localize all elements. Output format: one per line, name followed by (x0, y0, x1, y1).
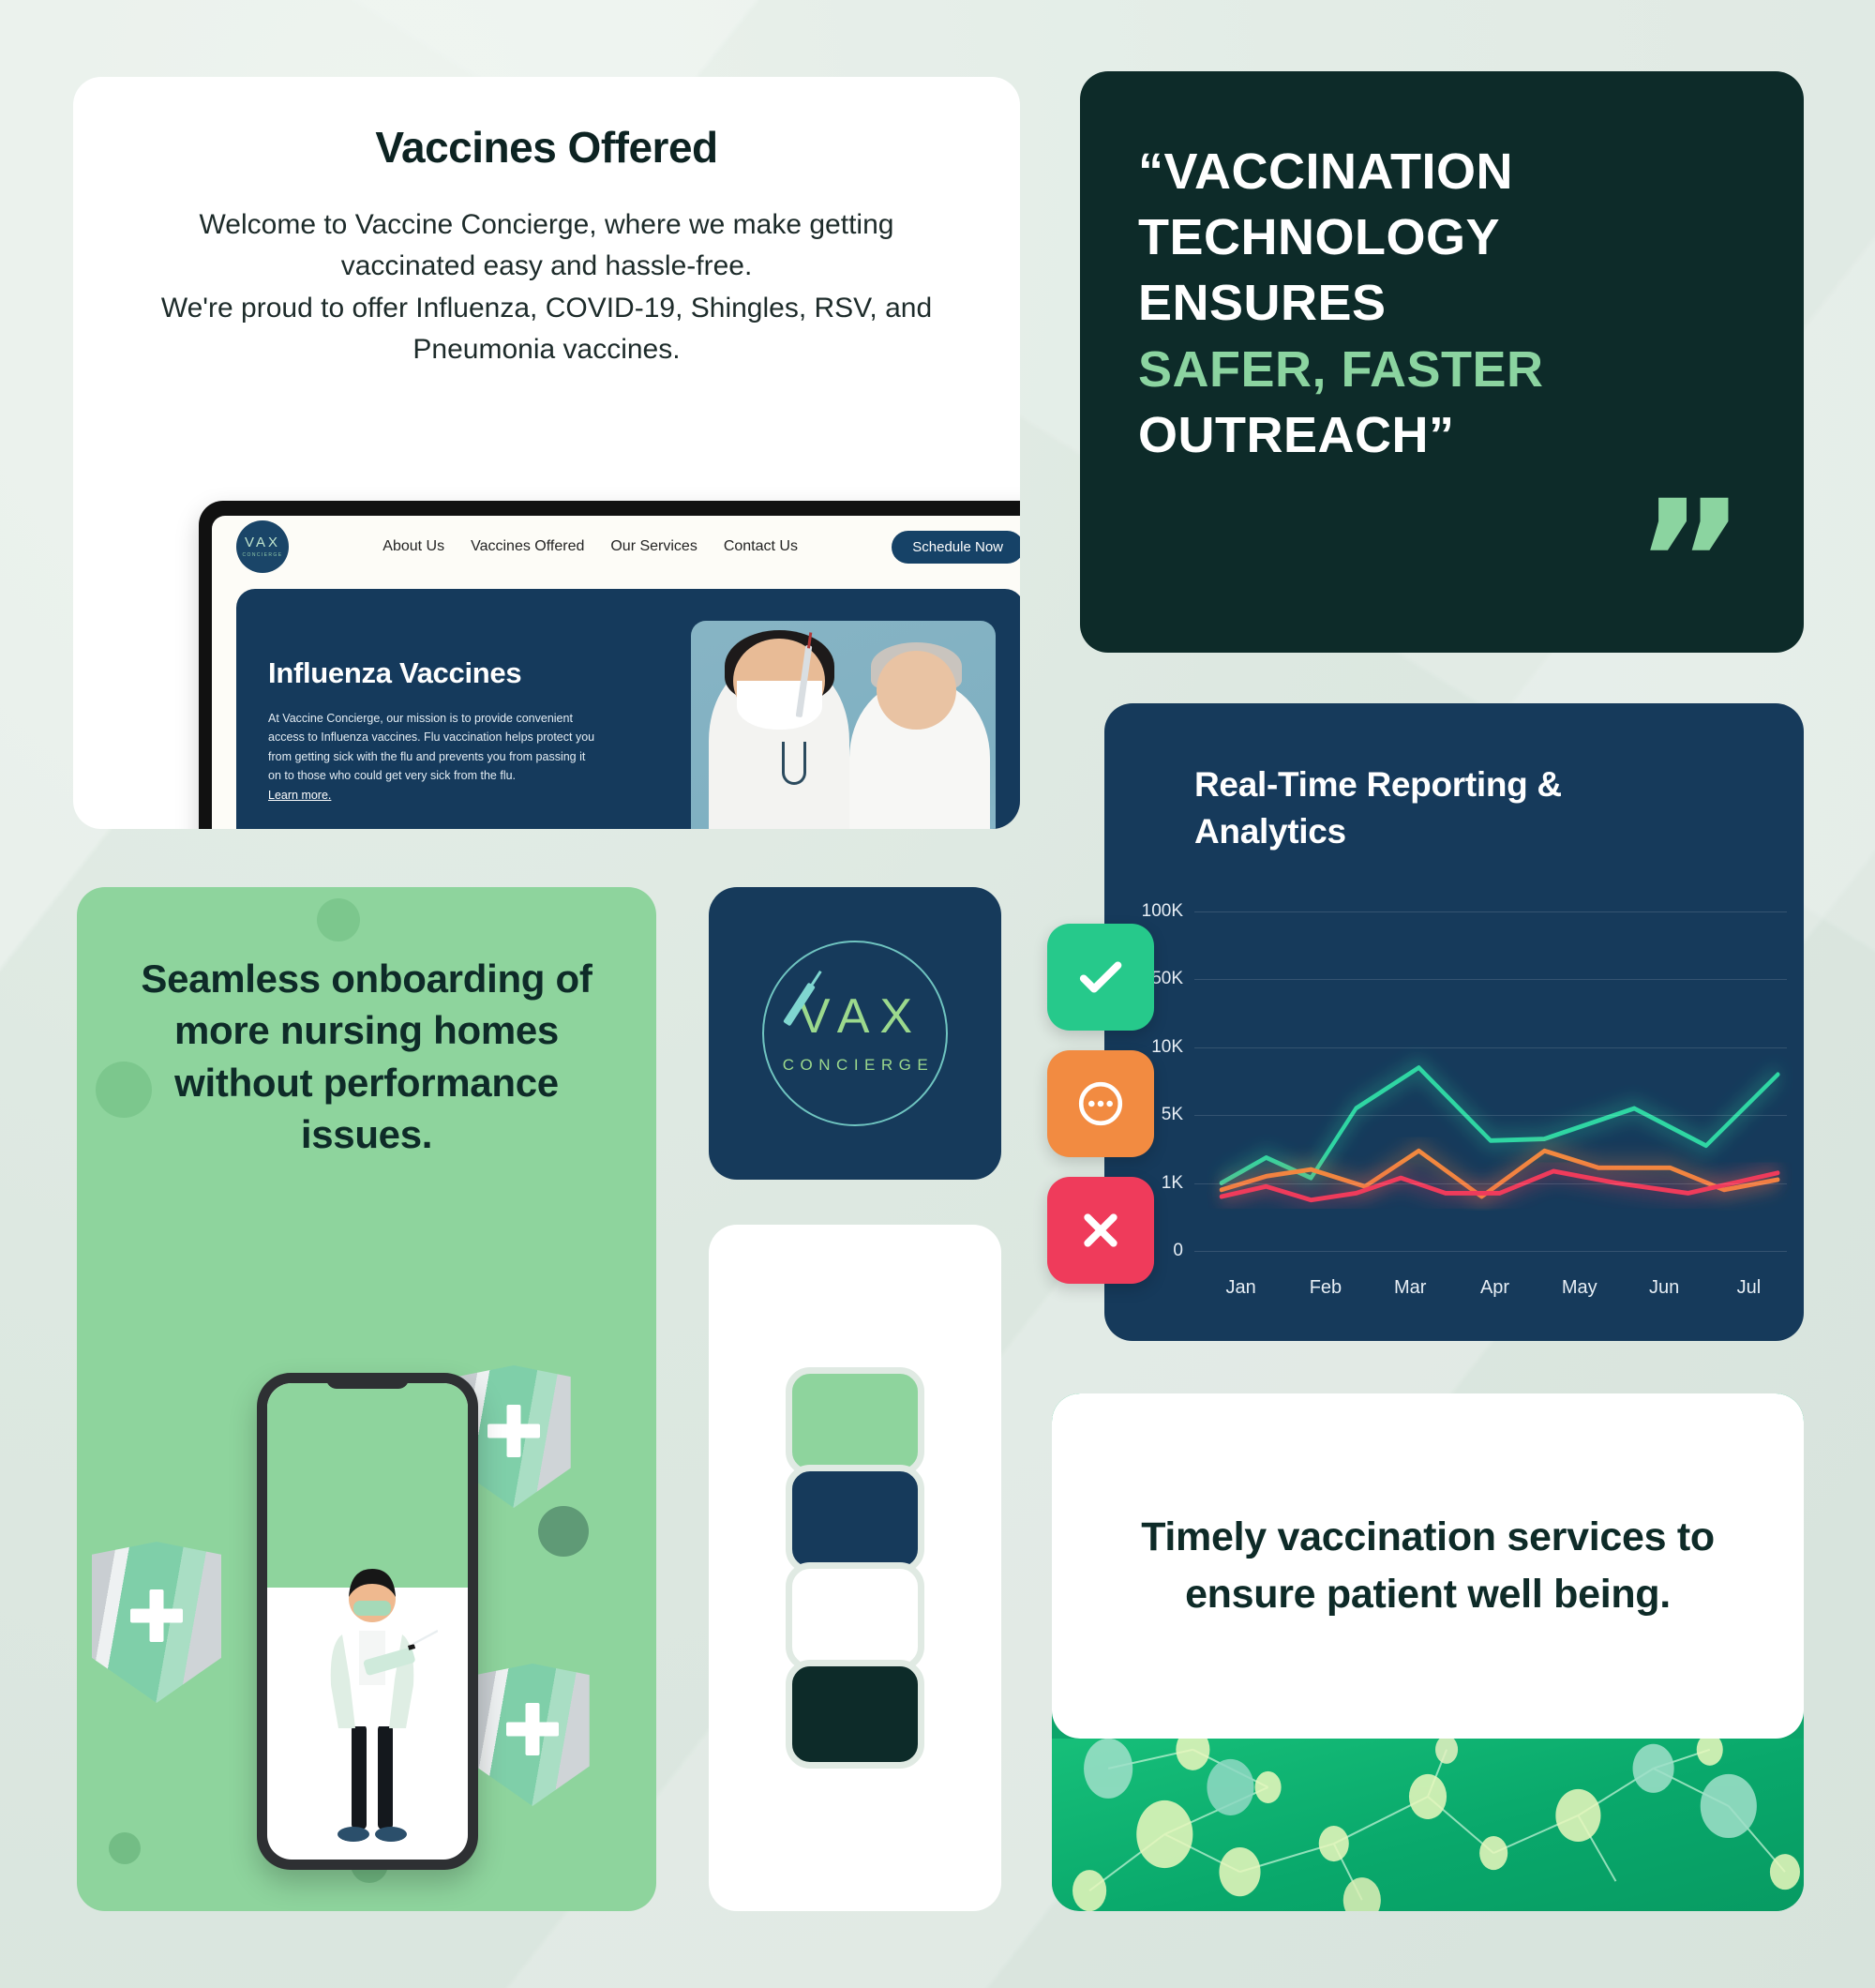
gridline (1194, 911, 1787, 912)
intro-line-1: Welcome to Vaccine Concierge, where we m… (157, 204, 936, 288)
tablet-screen: VAX CONCIERGE About Us Vaccines Offered … (212, 516, 1020, 829)
hero-photo (691, 621, 996, 829)
logo-subtitle: CONCIERGE (776, 1056, 934, 1075)
ellipsis-circle-icon (1073, 1077, 1128, 1131)
x-axis-label: May (1562, 1277, 1597, 1299)
gridline (1194, 1047, 1787, 1048)
virus-decor-1 (317, 898, 360, 941)
y-axis-label: 1K (1162, 1173, 1183, 1194)
stethoscope-icon (782, 742, 806, 785)
logo-wordmark: VAX (787, 992, 922, 1041)
quote-card: “VACCINATION TECHNOLOGY ENSURES SAFER, F… (1080, 71, 1804, 653)
nav-item-contact-us[interactable]: Contact Us (724, 538, 798, 555)
quote-line-4: SAFER, FASTER (1138, 337, 1746, 402)
y-axis-label: 0 (1173, 1241, 1183, 1261)
gridline (1194, 1251, 1787, 1252)
intro-line-2: We're proud to offer Influenza, COVID-19… (157, 288, 936, 371)
onboarding-heading: Seamless onboarding of more nursing home… (77, 887, 656, 1161)
nav-item-our-services[interactable]: Our Services (610, 538, 697, 555)
swatch-dark-teal[interactable] (786, 1660, 924, 1769)
logo-word-text: VAX (798, 989, 922, 1044)
quote-line-2: TECHNOLOGY (1138, 204, 1746, 270)
logo-ring: VAX CONCIERGE (762, 941, 948, 1126)
y-axis-label: 100K (1142, 901, 1183, 922)
close-icon (1073, 1203, 1128, 1258)
quotation-mark-icon: ” (1635, 520, 1746, 608)
status-badge-group (1047, 924, 1154, 1284)
nav-item-vaccines-offered[interactable]: Vaccines Offered (471, 538, 584, 555)
hero-title: Influenza Vaccines (268, 656, 685, 690)
molecule-graphic (1052, 1739, 1804, 1911)
virus-icon-dark (538, 1506, 589, 1557)
color-palette-card (709, 1225, 1001, 1911)
check-icon (1073, 950, 1128, 1004)
timely-heading: Timely vaccination services to ensure pa… (1128, 1509, 1728, 1623)
gridline (1194, 979, 1787, 980)
x-axis-label: Jan (1226, 1277, 1256, 1299)
doctor-illustration (297, 1541, 438, 1850)
quote-line-1: “VACCINATION (1138, 139, 1746, 204)
intro-paragraph: Welcome to Vaccine Concierge, where we m… (157, 204, 936, 371)
shield-icon-left (86, 1542, 227, 1703)
x-axis-label: Mar (1394, 1277, 1426, 1299)
timely-text-panel: Timely vaccination services to ensure pa… (1052, 1393, 1804, 1739)
face-mask-icon (737, 681, 822, 730)
smartphone-mockup (257, 1373, 478, 1870)
x-axis-label: Apr (1480, 1277, 1509, 1299)
quote-text: “VACCINATION TECHNOLOGY ENSURES SAFER, F… (1080, 71, 1804, 468)
swatch-light-green[interactable] (786, 1367, 924, 1476)
phone-notch (326, 1373, 409, 1389)
x-axis-label: Feb (1310, 1277, 1342, 1299)
swatch-navy[interactable] (786, 1465, 924, 1574)
shield-icon-bottom-right (471, 1664, 594, 1806)
website-navbar: VAX CONCIERGE About Us Vaccines Offered … (212, 516, 1020, 578)
timely-vaccination-card: Timely vaccination services to ensure pa… (1052, 1393, 1804, 1911)
swatch-white[interactable] (786, 1562, 924, 1671)
navbar-links: About Us Vaccines Offered Our Services C… (382, 538, 798, 555)
website-hero: Influenza Vaccines At Vaccine Concierge,… (236, 589, 1020, 829)
patient-head (877, 651, 956, 730)
y-axis-label: 5K (1162, 1105, 1183, 1125)
pending-badge[interactable] (1047, 1050, 1154, 1157)
y-axis-label: 10K (1151, 1037, 1183, 1058)
hero-body: At Vaccine Concierge, our mission is to … (268, 709, 596, 785)
y-axis-label: 50K (1151, 969, 1183, 989)
tablet-mockup: VAX CONCIERGE About Us Vaccines Offered … (199, 501, 1020, 829)
chart-title: Real-Time Reporting & Analytics (1104, 703, 1667, 855)
chart-plot-area: 01K5K10K50K100KJanFebMarAprMayJunJul (1194, 911, 1787, 1251)
navbar-logo-word: VAX (245, 535, 280, 550)
hero-text-block: Influenza Vaccines At Vaccine Concierge,… (236, 621, 685, 829)
nav-item-about-us[interactable]: About Us (382, 538, 444, 555)
vaccines-offered-card: Vaccines Offered Welcome to Vaccine Conc… (73, 77, 1020, 829)
navbar-logo-sub: CONCIERGE (243, 552, 283, 558)
check-badge[interactable] (1047, 924, 1154, 1031)
quote-line-5: OUTREACH” (1138, 402, 1746, 468)
navbar-logo[interactable]: VAX CONCIERGE (236, 520, 289, 573)
x-axis-label: Jul (1737, 1277, 1762, 1299)
x-axis-label: Jun (1649, 1277, 1679, 1299)
gridline (1194, 1115, 1787, 1116)
chart-lines (1194, 911, 1787, 1251)
quote-line-3: ENSURES (1138, 270, 1746, 336)
error-badge[interactable] (1047, 1177, 1154, 1284)
learn-more-link[interactable]: Learn more. (268, 789, 331, 802)
schedule-now-button[interactable]: Schedule Now (892, 531, 1020, 564)
virus-decor-2 (96, 1062, 152, 1118)
brand-logo-card: VAX CONCIERGE (709, 887, 1001, 1180)
phone-illustration (77, 1311, 656, 1911)
page-title: Vaccines Offered (73, 122, 1020, 173)
onboarding-card: Seamless onboarding of more nursing home… (77, 887, 656, 1911)
analytics-chart-card: Real-Time Reporting & Analytics 01K5K10K… (1104, 703, 1804, 1341)
molecular-pattern (1052, 1739, 1804, 1911)
phone-screen (267, 1383, 468, 1860)
gridline (1194, 1183, 1787, 1184)
